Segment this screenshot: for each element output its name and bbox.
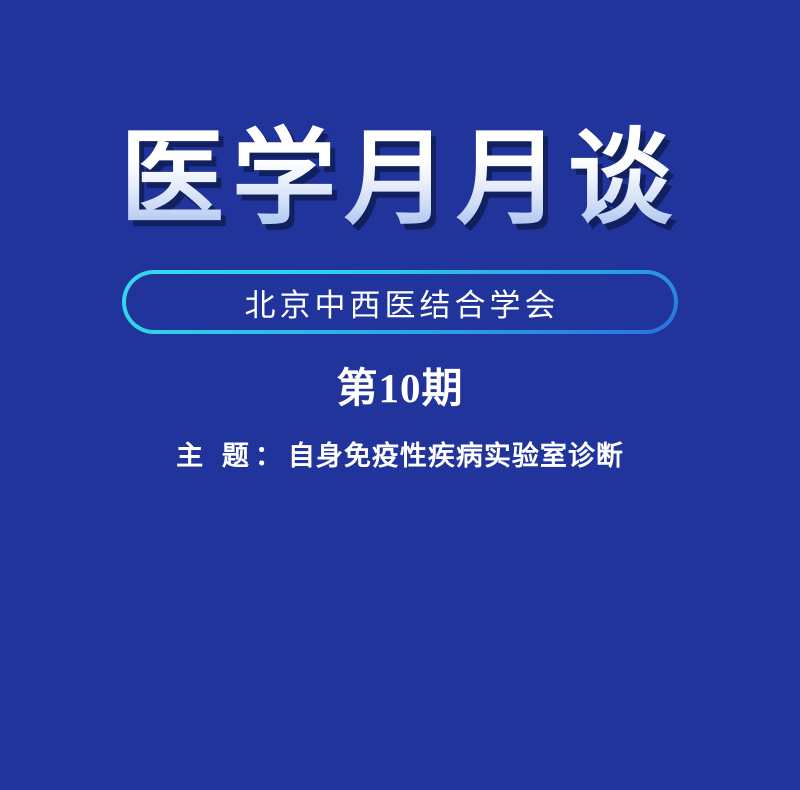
poster-slide: 医学月月谈 医学月月谈 北京中西医结合学会 第10期 主 题：自身免疫性疾病实验…	[0, 0, 800, 790]
organization-name: 北京中西医结合学会	[241, 280, 560, 325]
page-title: 医学月月谈 医学月月谈	[120, 126, 680, 230]
issue-number: 第10期	[0, 366, 800, 411]
main-title-text: 医学月月谈	[120, 116, 680, 239]
main-title-container: 医学月月谈 医学月月谈	[0, 126, 800, 230]
organization-badge: 北京中西医结合学会	[122, 270, 678, 334]
topic-value: 自身免疫性疾病实验室诊断	[288, 441, 624, 471]
topic-line: 主 题：自身免疫性疾病实验室诊断	[0, 440, 800, 472]
topic-label: 主 题：	[176, 441, 288, 471]
